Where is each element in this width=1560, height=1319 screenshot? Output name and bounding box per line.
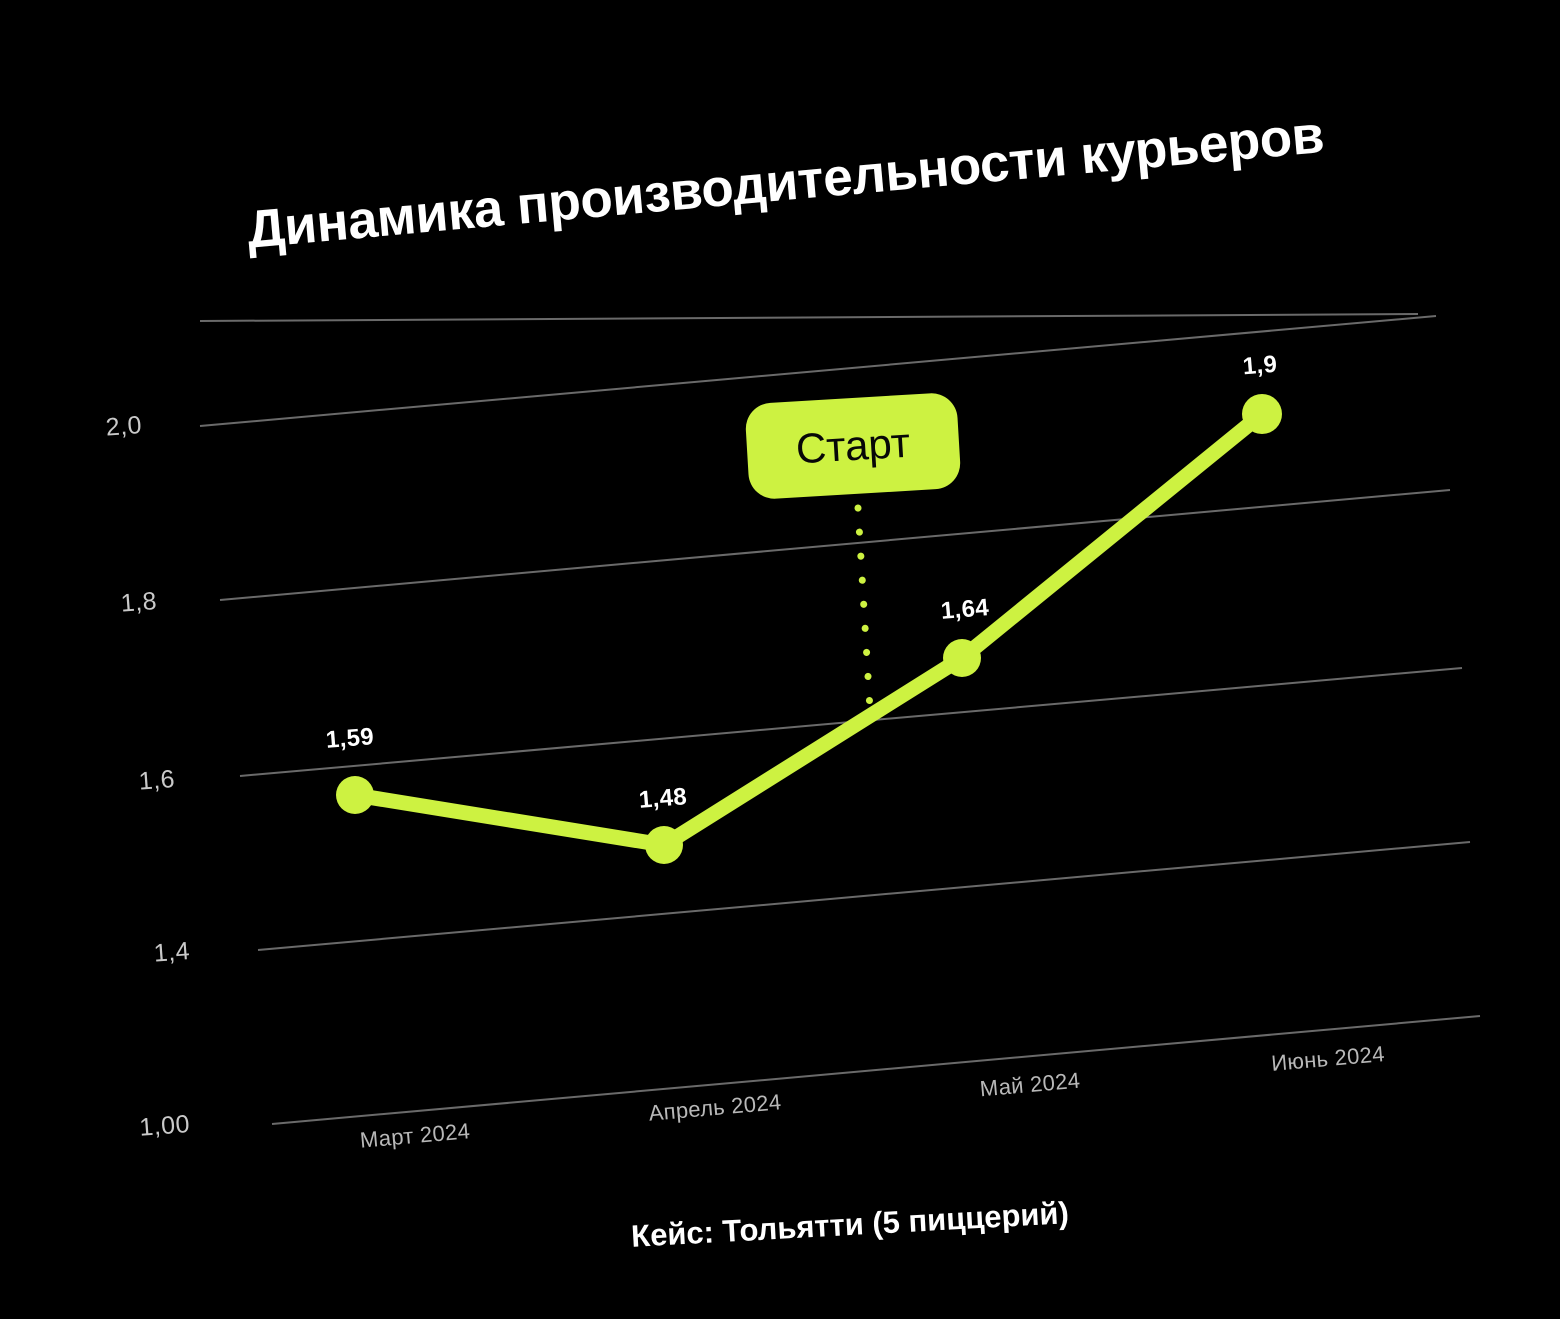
start-leader-line — [858, 508, 870, 710]
y-axis-tick-2-0: 2,0 — [79, 411, 143, 444]
data-point-marker — [645, 826, 683, 864]
chart-canvas: Динамика производительности курьеров 2,0… — [0, 0, 1560, 1319]
start-annotation-badge[interactable]: Старт — [744, 392, 961, 500]
gridline-top — [200, 314, 1418, 321]
data-point-marker — [943, 639, 981, 677]
data-point-marker — [336, 776, 374, 814]
start-annotation-label: Старт — [795, 419, 912, 474]
y-axis-tick-1-00: 1,00 — [127, 1110, 191, 1143]
gridline-1-4 — [258, 842, 1470, 950]
y-axis-tick-1-4: 1,4 — [127, 937, 191, 970]
plot-area — [0, 0, 1560, 1319]
gridline-1-8 — [220, 490, 1450, 600]
y-axis-tick-1-6: 1,6 — [112, 765, 176, 798]
data-point-marker — [1242, 394, 1282, 434]
y-axis-tick-1-8: 1,8 — [94, 587, 158, 620]
